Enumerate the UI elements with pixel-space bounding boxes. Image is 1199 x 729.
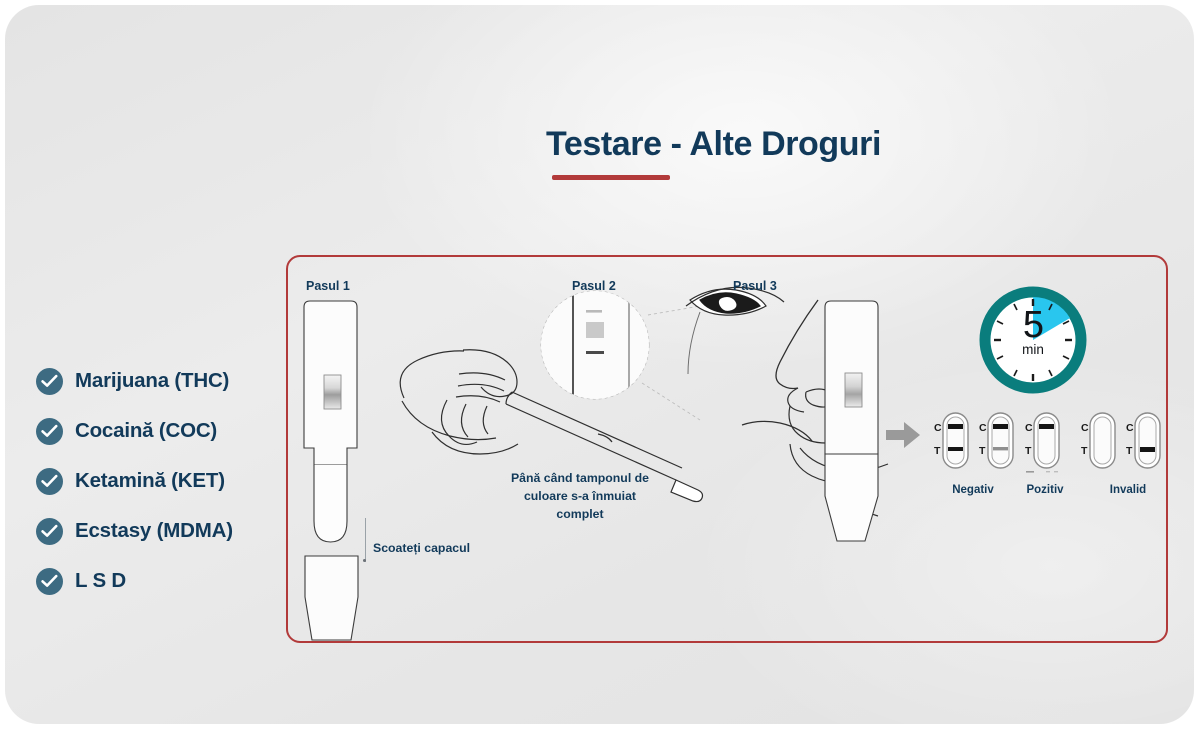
timer-icon bbox=[985, 292, 1081, 388]
result-label-pozitiv: Pozitiv bbox=[1010, 484, 1080, 496]
result-invalid-cassettes: C T C T bbox=[1081, 413, 1160, 468]
step-1-label: Pasul 1 bbox=[306, 279, 350, 293]
svg-text:C: C bbox=[1025, 422, 1033, 434]
svg-text:T: T bbox=[1081, 445, 1088, 457]
soak-note-line-1: Până când tamponul de bbox=[511, 471, 649, 485]
soak-note-line-3: complet bbox=[556, 507, 603, 521]
result-negativ-cassettes: C T C T bbox=[934, 413, 1013, 468]
step-3-label: Pasul 3 bbox=[733, 279, 777, 293]
svg-text:T: T bbox=[979, 445, 986, 457]
svg-text:T: T bbox=[1025, 445, 1032, 457]
step1-device bbox=[304, 301, 357, 542]
svg-text:T: T bbox=[1126, 445, 1133, 457]
result-label-negativ: Negativ bbox=[934, 484, 1012, 496]
screenshot-root: Testare - Alte Droguri Marijuana (THC) C… bbox=[0, 0, 1199, 729]
svg-text:C: C bbox=[979, 422, 987, 434]
arrow-right-icon bbox=[886, 422, 920, 448]
instruction-artwork: C T C T C T bbox=[0, 0, 1199, 729]
cap-note-leader-line bbox=[365, 518, 366, 562]
step2-magnifier bbox=[541, 288, 706, 420]
svg-text:C: C bbox=[1126, 422, 1134, 434]
svg-text:C: C bbox=[1081, 422, 1089, 434]
soak-instruction-note: Până când tamponul de culoare s-a înmuia… bbox=[480, 469, 680, 523]
svg-text:T: T bbox=[934, 445, 941, 457]
soak-note-line-2: culoare s-a înmuiat bbox=[524, 489, 636, 503]
step-2-label: Pasul 2 bbox=[572, 279, 616, 293]
result-label-invalid: Invalid bbox=[1092, 484, 1164, 496]
cap-note-leader-dot bbox=[363, 559, 366, 562]
remove-cap-note: Scoateți capacul bbox=[373, 539, 470, 557]
step1-cap bbox=[305, 556, 358, 640]
svg-text:C: C bbox=[934, 422, 942, 434]
result-pozitiv-cassettes: C T bbox=[1025, 413, 1059, 473]
step3-device bbox=[825, 301, 878, 541]
